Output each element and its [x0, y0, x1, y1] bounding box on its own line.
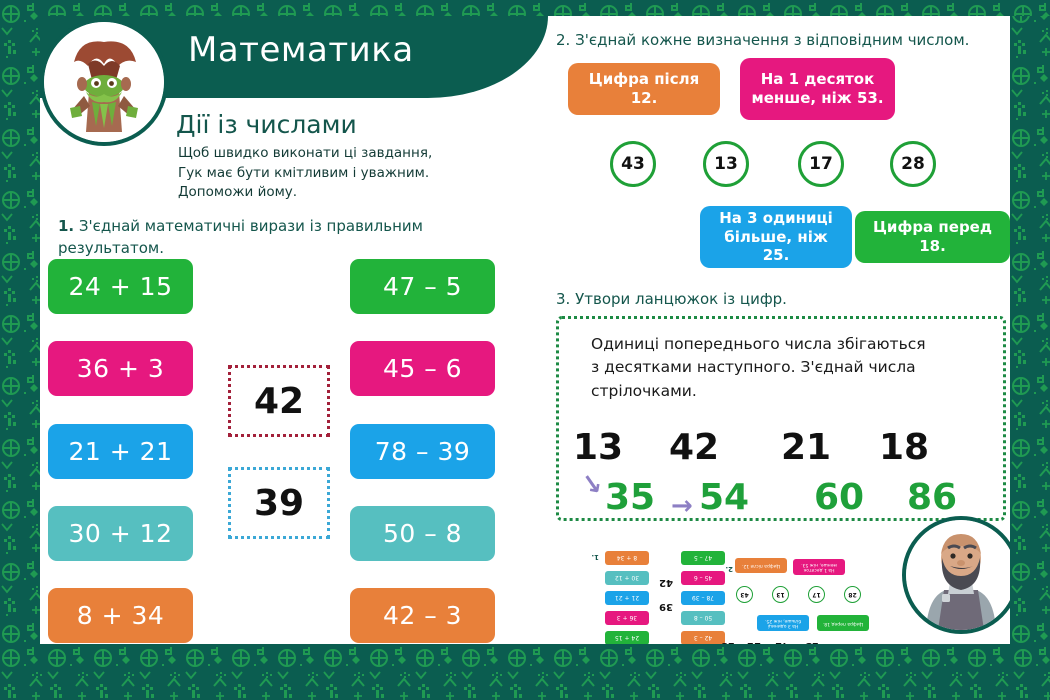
task-3-hint-line-1: Одиниці попереднього числа збігаються — [591, 333, 981, 356]
intro-line-2: Гук має бути кмітливим і уважним. — [178, 164, 508, 184]
task-1-left-expression[interactable]: 8 + 34 — [48, 588, 193, 643]
task-2-text: З'єднай кожне визначення з відповідним ч… — [575, 31, 969, 49]
thumb-task-2-circle: 13 — [772, 586, 789, 603]
thumb-task-1-left-expression: 24 + 15 — [605, 631, 649, 644]
task-2-number: 2. — [556, 31, 570, 49]
thumb-task-3-top-number: 18 — [721, 640, 735, 644]
thumb-task-2-circle: 43 — [736, 586, 753, 603]
task-3-chain-top-number[interactable]: 21 — [781, 427, 831, 468]
task-2-definition-card[interactable]: Цифра після 12. — [568, 63, 720, 115]
task-3-hint-line-3: стрілочками. — [591, 380, 981, 403]
ornament-border-bottom — [0, 644, 1050, 700]
thumb-task-2-circle: 28 — [844, 586, 861, 603]
thumb-task-1-left-expression: 8 + 34 — [605, 551, 649, 565]
task-2-number-circle[interactable]: 43 — [610, 141, 656, 187]
task-3-chain-top-number[interactable]: 18 — [879, 427, 929, 468]
task-1-number: 1. — [58, 217, 74, 235]
task-1-left-expression[interactable]: 36 + 3 — [48, 341, 193, 396]
task-1-left-expression[interactable]: 30 + 12 — [48, 506, 193, 561]
task-3-chain-top-number[interactable]: 42 — [669, 427, 719, 468]
thumb-task-1-number: 1. — [591, 553, 599, 561]
task-2-definition-card[interactable]: На 3 одиниці більше, ніж 25. — [700, 206, 852, 268]
task-3-chain-bottom-number[interactable]: 54 — [699, 477, 749, 518]
task-3-instruction: 3. Утвори ланцюжок із цифр. — [556, 290, 996, 308]
task-1-right-expression[interactable]: 47 – 5 — [350, 259, 495, 314]
task-3-hint-line-2: з десятками наступного. З'єднай числа — [591, 356, 981, 379]
task-2-number-circle[interactable]: 17 — [798, 141, 844, 187]
page-background: Математика — [0, 0, 1050, 700]
answer-box-39[interactable]: 39 — [228, 467, 330, 539]
task-2-definition-card[interactable]: На 1 десяток менше, ніж 53. — [740, 58, 895, 120]
task-1-right-expression[interactable]: 78 – 39 — [350, 424, 495, 479]
thumb-task-3-top-number: 42 — [775, 640, 789, 644]
task-3-chain-bottom-number[interactable]: 60 — [814, 477, 864, 518]
task-1-instruction: 1. З'єднай математичні вирази із правиль… — [58, 216, 478, 260]
task-3-chain-top-number[interactable]: 13 — [573, 427, 623, 468]
thumb-task-2-number: 2. — [725, 565, 733, 573]
intro-line-3: Допоможи йому. — [178, 183, 508, 203]
thumb-task-1-right-expression: 47 – 5 — [681, 551, 725, 565]
task-2-instruction: 2. З'єднай кожне визначення з відповідни… — [556, 30, 1006, 51]
avatar-blacksmith — [902, 516, 1010, 634]
task-2-number-circle[interactable]: 13 — [703, 141, 749, 187]
task-3-box: Одиниці попереднього числа збігаються з … — [556, 316, 1006, 521]
answer-box-42[interactable]: 42 — [228, 365, 330, 437]
thumb-task-1-right-expression: 50 – 8 — [681, 611, 725, 625]
task-2-number-circle[interactable]: 28 — [890, 141, 936, 187]
thumb-task-2-definition: На 3 одиниці більше, ніж 25. — [757, 615, 809, 631]
thumb-answer-box: 42 — [653, 574, 679, 591]
intro-text: Щоб швидко виконати ці завдання, Гук має… — [178, 144, 508, 203]
task-3-arrow-icon: → — [671, 491, 693, 521]
thumb-task-3-top-number: 21 — [747, 640, 761, 644]
thumb-task-1-left-expression: 30 + 12 — [605, 571, 649, 585]
thumb-task-1-right-expression: 45 – 6 — [681, 571, 725, 585]
ornament-border-top — [0, 0, 1050, 16]
thumb-task-2-definition: Цифра після 12. — [735, 558, 787, 573]
task-1-right-expression[interactable]: 50 – 8 — [350, 506, 495, 561]
task-2-definition-card[interactable]: Цифра перед 18. — [855, 211, 1010, 263]
intro-line-1: Щоб швидко виконати ці завдання, — [178, 144, 508, 164]
avatar-huk-mushroom — [40, 18, 168, 146]
worksheet-card: Математика — [40, 16, 1010, 644]
thumb-task-2-definition: Цифра перед 18. — [817, 615, 869, 631]
task-3-chain-bottom-number[interactable]: 86 — [907, 477, 957, 518]
page-title: Математика — [188, 30, 414, 70]
thumb-task-2-definition: На 1 десяток менше, ніж 53. — [793, 559, 845, 575]
thumb-task-1-left-expression: 21 + 21 — [605, 591, 649, 605]
task-3-hint: Одиниці попереднього числа збігаються з … — [591, 333, 981, 403]
task-1-left-expression[interactable]: 24 + 15 — [48, 259, 193, 314]
task-1-right-expression[interactable]: 45 – 6 — [350, 341, 495, 396]
thumb-task-2-circle: 17 — [808, 586, 825, 603]
thumb-task-3-number: 3. — [701, 643, 709, 644]
thumb-answer-box: 39 — [653, 598, 679, 615]
thumb-task-3-top-number: 13 — [805, 640, 819, 644]
task-3-number: 3. — [556, 290, 570, 308]
task-1-text: З'єднай математичні вирази із правильним… — [58, 217, 423, 257]
worksheet-subtitle: Дії із числами — [176, 110, 357, 139]
ornament-border-right — [1010, 0, 1050, 700]
answer-key-thumbnail: 24 + 1536 + 321 + 2130 + 128 + 3442 – 35… — [540, 528, 885, 644]
task-3-text: Утвори ланцюжок із цифр. — [575, 290, 787, 308]
ornament-border-left — [0, 0, 40, 700]
task-1-left-expression[interactable]: 21 + 21 — [48, 424, 193, 479]
thumb-task-1-right-expression: 78 – 39 — [681, 591, 725, 605]
task-3-chain-bottom-number[interactable]: 35 — [605, 477, 655, 518]
thumb-task-1-left-expression: 36 + 3 — [605, 611, 649, 625]
task-1-right-expression[interactable]: 42 – 3 — [350, 588, 495, 643]
